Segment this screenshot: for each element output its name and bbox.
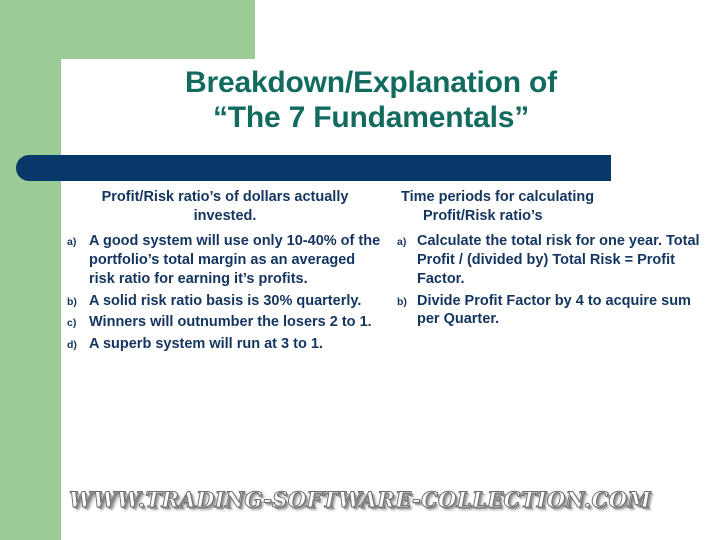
page-title: Breakdown/Explanation of “The 7 Fundamen… <box>61 66 681 135</box>
column-right-list: a) Calculate the total risk for one year… <box>397 232 712 329</box>
column-right-heading-line-2: Profit/Risk ratio’s <box>401 207 712 226</box>
green-accent-strip <box>0 59 61 540</box>
page-title-line-1: Breakdown/Explanation of <box>61 66 681 101</box>
list-item: a) A good system will use only 10-40% of… <box>67 232 383 289</box>
column-left-list: a) A good system will use only 10-40% of… <box>67 232 383 354</box>
list-item-marker: c) <box>67 313 89 329</box>
list-item-marker: a) <box>397 232 417 248</box>
list-item-marker: d) <box>67 335 89 351</box>
list-item: c) Winners will outnumber the losers 2 t… <box>67 313 383 332</box>
content-columns: Profit/Risk ratio’s of dollars actually … <box>61 188 720 357</box>
green-accent-block <box>0 0 255 59</box>
list-item: b) Divide Profit Factor by 4 to acquire … <box>397 292 712 330</box>
list-item-text: A good system will use only 10-40% of th… <box>89 232 383 289</box>
list-item-text: Calculate the total risk for one year. T… <box>417 232 712 289</box>
list-item-marker: b) <box>397 292 417 308</box>
list-item-text: Winners will outnumber the losers 2 to 1… <box>89 313 383 332</box>
column-left-heading: Profit/Risk ratio’s of dollars actually … <box>67 188 383 225</box>
column-left-heading-line-1: Profit/Risk ratio’s of dollars <box>102 189 291 205</box>
list-item-text: Divide Profit Factor by 4 to acquire sum… <box>417 292 712 330</box>
list-item: b) A solid risk ratio basis is 30% quart… <box>67 292 383 311</box>
column-left: Profit/Risk ratio’s of dollars actually … <box>61 188 391 357</box>
column-right-heading: Time periods for calculating Profit/Risk… <box>397 188 712 225</box>
list-item-marker: b) <box>67 292 89 308</box>
list-item-text: A superb system will run at 3 to 1. <box>89 335 383 354</box>
page-title-line-2: “The 7 Fundamentals” <box>61 101 681 136</box>
title-underline-bar <box>16 155 611 181</box>
list-item: d) A superb system will run at 3 to 1. <box>67 335 383 354</box>
list-item: a) Calculate the total risk for one year… <box>397 232 712 289</box>
column-right-heading-line-1: Time periods for calculating <box>401 189 594 205</box>
list-item-text: A solid risk ratio basis is 30% quarterl… <box>89 292 383 311</box>
watermark-text: WWW.TRADING-SOFTWARE-COLLECTION.COM <box>0 487 720 512</box>
presentation-slide: Breakdown/Explanation of “The 7 Fundamen… <box>0 0 720 540</box>
column-right: Time periods for calculating Profit/Risk… <box>391 188 720 332</box>
list-item-marker: a) <box>67 232 89 248</box>
